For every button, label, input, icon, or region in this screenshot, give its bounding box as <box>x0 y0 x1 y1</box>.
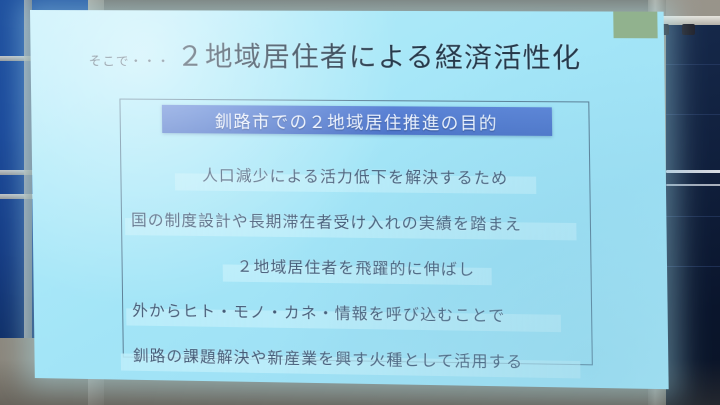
slide-title: そこで・・・ ２地域居住者による経済活性化 <box>88 34 643 76</box>
green-corner-swatch <box>613 10 657 38</box>
body-line-list: 人口減少による活力低下を解決するため 国の制度設計や長期滞在者受け入れの実績を踏… <box>124 151 591 385</box>
room-scene: そこで・・・ ２地域居住者による経済活性化 釧路市での２地域居住推進の目的 人口… <box>0 0 720 405</box>
body-line: ２地域居住者を飛躍的に伸ばし <box>125 241 589 293</box>
body-line-text: 人口減少による活力低下を解決するため <box>202 163 508 188</box>
body-line: 釧路の課題解決や新産業を興す火種として活用する <box>127 331 591 384</box>
section-header-bar: 釧路市での２地域居住推進の目的 <box>162 105 552 136</box>
slide-title-main: ２地域居住者による経済活性化 <box>176 35 582 76</box>
section-header-label: 釧路市での２地域居住推進の目的 <box>215 107 499 134</box>
projected-slide: そこで・・・ ２地域居住者による経済活性化 釧路市での２地域居住推進の目的 人口… <box>30 10 669 389</box>
body-line-text: 国の制度設計や長期滞在者受け入れの実績を踏まえ <box>131 208 522 235</box>
right-window <box>662 18 720 405</box>
slide-title-prefix: そこで・・・ <box>89 50 171 69</box>
body-line: 国の制度設計や長期滞在者受け入れの実績を踏まえ <box>125 196 589 247</box>
body-line: 外からヒト・モノ・カネ・情報を呼び込むことで <box>126 286 590 338</box>
body-line: 人口減少による活力低下を解決するため <box>124 151 588 201</box>
body-line-text: ２地域居住者を飛躍的に伸ばし <box>237 254 476 279</box>
